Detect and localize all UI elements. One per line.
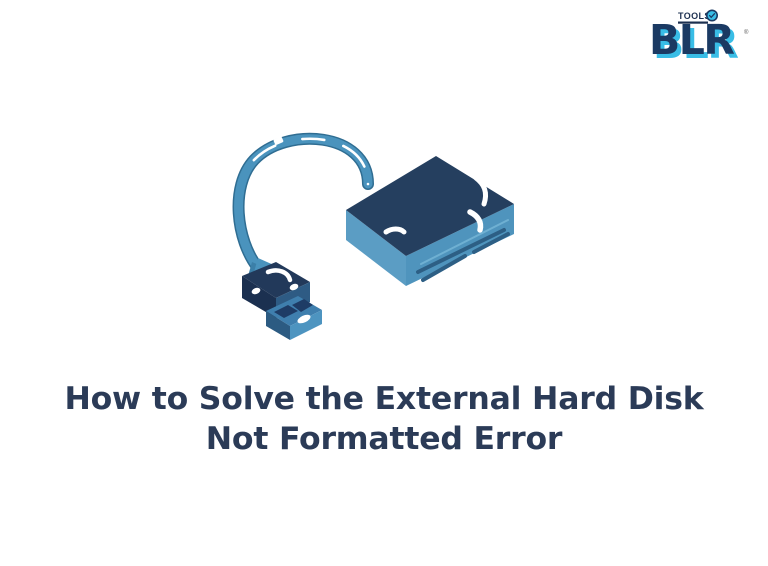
article-title: How to Solve the External Hard Disk Not … xyxy=(0,379,768,459)
page-root: TOOLS BLR BLR ® xyxy=(0,0,768,566)
logo-registered-mark: ® xyxy=(744,29,749,36)
article-title-line-1: How to Solve the External Hard Disk xyxy=(0,379,768,419)
blr-tools-logo[interactable]: TOOLS BLR BLR ® xyxy=(646,6,756,68)
logo-brand-label: BLR xyxy=(649,16,734,64)
usb-cable-icon xyxy=(239,136,368,268)
logo-blr-group: BLR BLR ® xyxy=(649,16,749,68)
usb-a-connector-icon xyxy=(242,258,322,340)
article-title-line-2: Not Formatted Error xyxy=(0,419,768,459)
external-hard-disk-illustration xyxy=(218,112,578,342)
